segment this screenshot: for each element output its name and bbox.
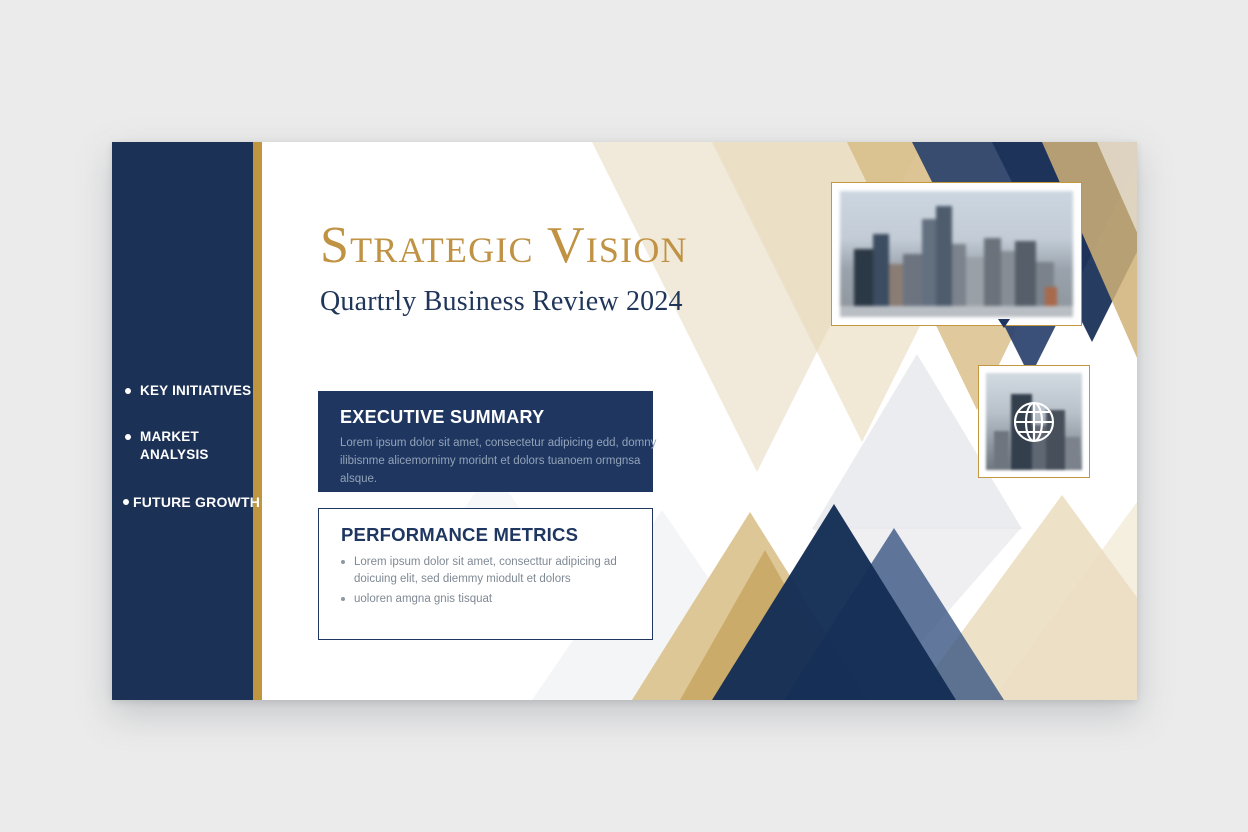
decorative-triangle-cream-bottom-2 bbox=[992, 502, 1137, 700]
title-block: Strategic Vision Quartrly Business Revie… bbox=[320, 220, 688, 318]
bullet-icon bbox=[125, 388, 131, 394]
decorative-triangle-gold-bottom-2 bbox=[680, 550, 850, 700]
sidebar-item-label: FUTURE GROWTH bbox=[133, 493, 260, 512]
presentation-slide: KEY INITIATIVES MARKET ANALYSIS FUTURE G… bbox=[112, 142, 1137, 700]
decorative-triangle-cream-bottom bbox=[912, 495, 1137, 700]
list-item: uoloren amgna gnis tisquat bbox=[341, 591, 634, 608]
performance-metrics-title: PERFORMANCE METRICS bbox=[341, 524, 634, 546]
executive-summary-card[interactable]: EXECUTIVE SUMMARY Lorem ipsum dolor sit … bbox=[318, 391, 653, 492]
globe-image-frame[interactable] bbox=[978, 365, 1090, 478]
executive-summary-title: EXECUTIVE SUMMARY bbox=[340, 407, 635, 428]
bullet-icon bbox=[125, 434, 131, 440]
decorative-triangle-white-top-right bbox=[1097, 142, 1137, 357]
decorative-triangle-gold-bottom bbox=[632, 512, 868, 700]
sidebar-item-label: MARKET ANALYSIS bbox=[140, 428, 232, 464]
city-skyline-photo bbox=[840, 191, 1073, 317]
sidebar-item-key-initiatives[interactable]: KEY INITIATIVES bbox=[112, 382, 257, 400]
bullet-icon bbox=[341, 560, 345, 564]
decorative-triangle-navy-bottom bbox=[712, 504, 956, 700]
decorative-triangle-navy-bottom-2 bbox=[784, 528, 1004, 700]
bullet-icon bbox=[123, 499, 129, 505]
list-item-label: uoloren amgna gnis tisquat bbox=[354, 591, 492, 608]
list-item: Lorem ipsum dolor sit amet, consecttur a… bbox=[341, 554, 634, 589]
sidebar-item-label: KEY INITIATIVES bbox=[140, 382, 251, 400]
bullet-icon bbox=[341, 597, 345, 601]
sidebar-item-market-analysis[interactable]: MARKET ANALYSIS bbox=[112, 428, 257, 464]
list-item-label: Lorem ipsum dolor sit amet, consecttur a… bbox=[354, 554, 634, 589]
sidebar-nav-list: KEY INITIATIVES MARKET ANALYSIS FUTURE G… bbox=[112, 382, 257, 540]
page-title: Strategic Vision bbox=[320, 220, 688, 272]
sidebar-item-future-growth[interactable]: FUTURE GROWTH bbox=[112, 493, 257, 512]
decorative-diamond-lower bbox=[812, 527, 1022, 647]
globe-icon bbox=[1008, 396, 1060, 448]
slide-marker-icon bbox=[998, 319, 1010, 328]
executive-summary-body: Lorem ipsum dolor sit amet, consectetur … bbox=[340, 435, 670, 488]
performance-metrics-card[interactable]: PERFORMANCE METRICS Lorem ipsum dolor si… bbox=[318, 508, 653, 640]
skyline-image-frame[interactable] bbox=[831, 182, 1082, 326]
page-subtitle: Quartrly Business Review 2024 bbox=[320, 286, 688, 318]
